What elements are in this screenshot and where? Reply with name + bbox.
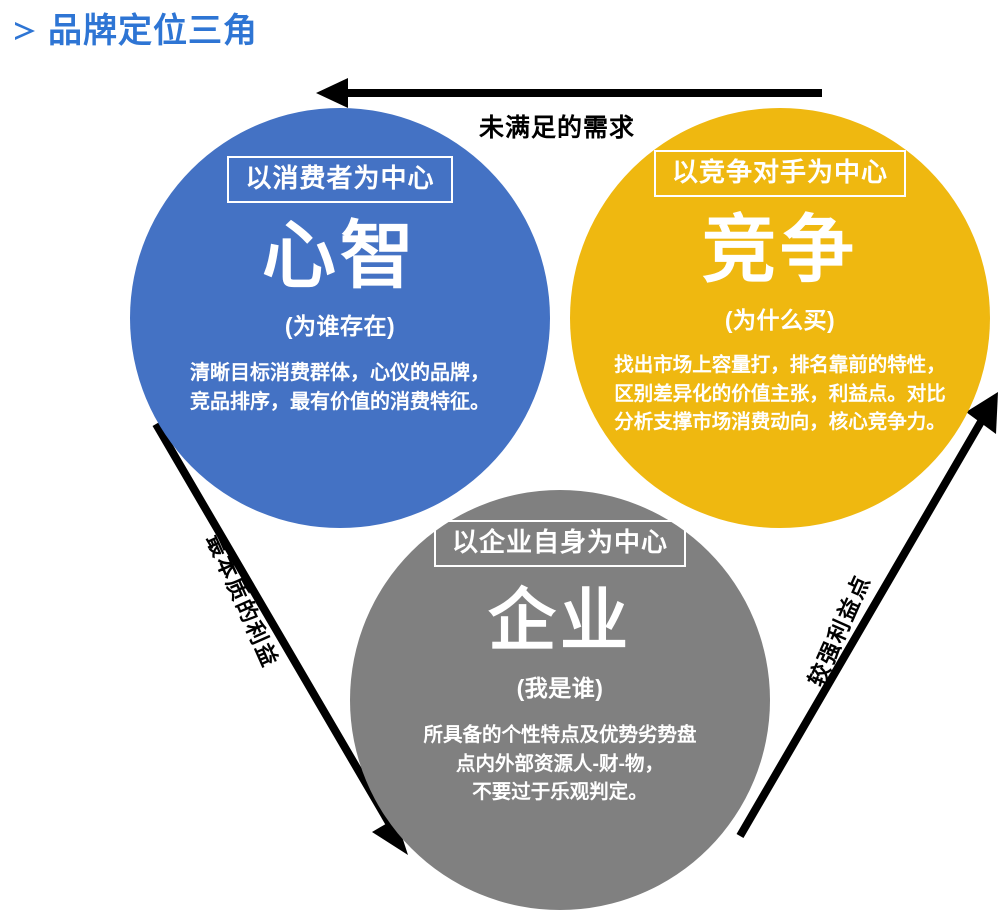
circle-consumer-content: 以消费者为中心 心智 (为谁存在) 清晰目标消费群体，心仪的品牌， 竞品排序，最… (130, 156, 550, 417)
circle-company-body-line: 不要过于乐观判定。 (423, 778, 696, 806)
circle-competitor-content: 以竞争对手为中心 竞争 (为什么买) 找出市场上容量打，排名靠前的特性， 区别差… (570, 150, 990, 436)
circle-company-body-line: 所具备的个性特点及优势劣势盘 (423, 721, 696, 749)
circle-competitor-body: 找出市场上容量打，排名靠前的特性， 区别差异化的价值主张，利益点。对比 分析支撑… (614, 351, 946, 436)
circle-consumer-headline: 心智 (262, 219, 418, 293)
circle-company-body-line: 点内外部资源人-财-物， (423, 750, 696, 778)
circle-consumer-body: 清晰目标消费群体，心仪的品牌， 竞品排序，最有价值的消费特征。 (190, 359, 490, 417)
circle-consumer[interactable]: 以消费者为中心 心智 (为谁存在) 清晰目标消费群体，心仪的品牌， 竞品排序，最… (130, 108, 550, 528)
circle-consumer-subline: (为谁存在) (285, 307, 395, 341)
circle-company-subline: (我是谁) (517, 669, 604, 703)
arrow-top-label: 未满足的需求 (479, 108, 635, 144)
circle-company-headline: 企业 (488, 587, 632, 655)
circle-competitor-headline: 竞争 (702, 213, 858, 287)
circle-competitor-body-line: 找出市场上容量打，排名靠前的特性， (614, 351, 946, 379)
arrow-left-label: 最本质的利益 (200, 528, 288, 673)
circle-competitor-badge: 以竞争对手为中心 (654, 150, 906, 197)
arrow-right-label: 较强利益点 (799, 568, 877, 691)
circle-consumer-badge: 以消费者为中心 (227, 156, 452, 203)
arrow-top (316, 78, 822, 108)
circle-competitor-body-line: 区别差异化的价值主张，利益点。对比 (614, 380, 946, 408)
circle-company-body: 所具备的个性特点及优势劣势盘 点内外部资源人-财-物， 不要过于乐观判定。 (423, 721, 696, 806)
circle-company-badge: 以企业自身为中心 (434, 520, 686, 567)
circle-company[interactable]: 以企业自身为中心 企业 (我是谁) 所具备的个性特点及优势劣势盘 点内外部资源人… (350, 490, 770, 910)
circle-competitor-subline: (为什么买) (725, 301, 835, 335)
circle-competitor-body-line: 分析支撑市场消费动向，核心竞争力。 (614, 408, 946, 436)
circle-consumer-body-line: 竞品排序，最有价值的消费特征。 (190, 388, 490, 417)
circle-consumer-body-line: 清晰目标消费群体，心仪的品牌， (190, 359, 490, 388)
circle-company-content: 以企业自身为中心 企业 (我是谁) 所具备的个性特点及优势劣势盘 点内外部资源人… (350, 520, 770, 806)
brand-positioning-triangle-diagram: 以消费者为中心 心智 (为谁存在) 清晰目标消费群体，心仪的品牌， 竞品排序，最… (0, 0, 1000, 911)
circle-competitor[interactable]: 以竞争对手为中心 竞争 (为什么买) 找出市场上容量打，排名靠前的特性， 区别差… (570, 108, 990, 528)
